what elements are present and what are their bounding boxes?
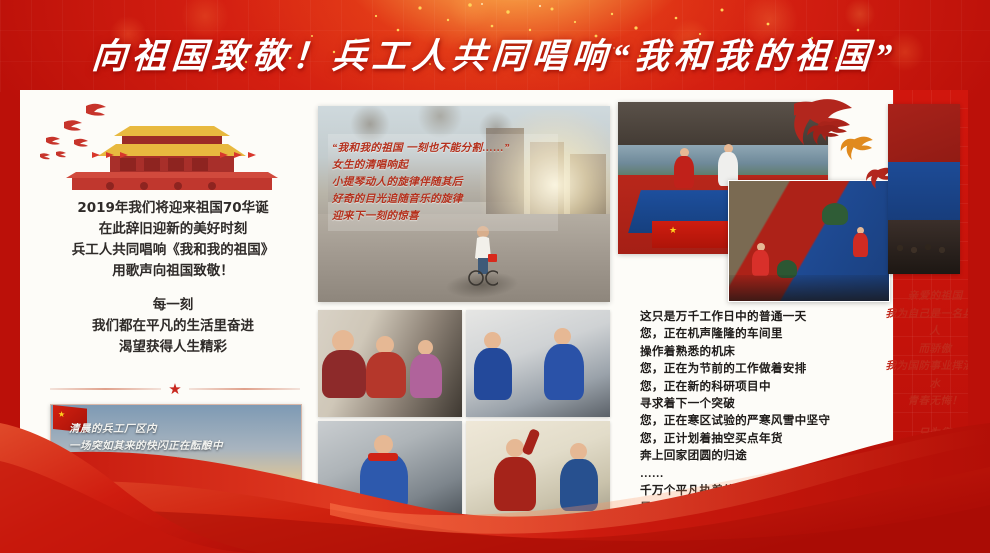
photo-crowd-singing: [888, 104, 960, 274]
photo-worker-with-flag: [318, 421, 462, 528]
far-right-text: 亲爱的祖国 我为自己是一名兵工人 而骄傲 我为国防事业挥洒汗水 青春无悔！ 只为…: [882, 288, 968, 477]
body-line: 操作着熟悉的机床: [640, 343, 890, 360]
photo-grid: [318, 310, 610, 528]
poster-root: 向祖国致敬！兵工人共同唱响“我和我的祖国”: [0, 0, 990, 553]
body-line: 寻求着下一个突破: [640, 395, 890, 412]
far-line: 国泰民安: [882, 442, 968, 460]
body-line: 不变的初心和坚守: [640, 517, 890, 530]
far-right-column: 亲爱的祖国 我为自己是一名兵工人 而骄傲 我为国防事业挥洒汗水 青春无悔！ 只为…: [882, 96, 968, 524]
left-column: 2019年我们将迎来祖国70华诞 在此辞旧迎新的美好时刻 兵工人共同唱响《我和我…: [28, 94, 318, 524]
left-line: 我们都在平凡的生活里奋进: [28, 316, 318, 337]
photo-waving-woman: [466, 421, 610, 528]
photo-elderly-singers: [318, 310, 462, 417]
body-line: ……: [640, 465, 890, 482]
caption-line: 快闪队员纷纷开始行动: [69, 455, 283, 472]
star-divider: ★: [50, 382, 300, 396]
left-line: 每一刻: [28, 295, 318, 316]
photo-bicycle-dawn: “我和我的祖国 一刻也不能分割……” 女生的清唱响起 小提琴动人的旋律伴随其后 …: [318, 106, 610, 302]
far-line: 青春无悔！: [882, 393, 968, 411]
left-intro-text: 2019年我们将迎来祖国70华诞 在此辞旧迎新的美好时刻 兵工人共同唱响《我和我…: [28, 198, 318, 358]
body-line: 您，正在寒区试验的严寒风雪中坚守: [640, 412, 890, 429]
photo-two-workers: [466, 310, 610, 417]
right-column: ★: [616, 96, 896, 524]
photo-caption-hero: “我和我的祖国 一刻也不能分割……” 女生的清唱响起 小提琴动人的旋律伴随其后 …: [328, 134, 558, 231]
far-line: 而骄傲: [882, 341, 968, 359]
left-line: 在此辞旧迎新的美好时刻: [28, 219, 318, 240]
right-body-text: 这只是万千工作日中的普通一天 您，正在机声隆隆的车间里 操作着熟悉的机床 您，正…: [640, 308, 890, 530]
content-panel: 2019年我们将迎来祖国70华诞 在此辞旧迎新的美好时刻 兵工人共同唱响《我和我…: [20, 90, 968, 530]
caption-line: 好奇的目光追随音乐的旋律: [332, 191, 554, 208]
caption-line: 一场突如其来的快闪正在酝酿中: [69, 438, 283, 455]
photo-caption-left: 清晨的兵工厂区内 一场突如其来的快闪正在酝酿中 快闪队员纷纷开始行动: [69, 421, 283, 472]
caption-line: 女生的清唱响起: [332, 157, 554, 174]
divider-bar-left: [50, 388, 161, 390]
left-line: 渴望获得人生精彩: [28, 337, 318, 358]
body-line: 您，正在为节前的工作做着安排: [640, 360, 890, 377]
left-line: 用歌声向祖国致敬！: [28, 261, 318, 282]
center-column: “我和我的祖国 一刻也不能分割……” 女生的清唱响起 小提琴动人的旋律伴随其后 …: [318, 98, 610, 522]
body-line: 是兵工人对“铸国防利剑”: [640, 499, 890, 516]
divider-bar-right: [189, 388, 300, 390]
body-line: 您，正计划着抽空买点年货: [640, 430, 890, 447]
photo-factory-dawn: ★ 清晨的兵工厂区内 一场突如其来的快闪正在酝酿中 快闪队员纷纷开始行动: [50, 404, 302, 522]
poster-title-wrap: 向祖国致敬！兵工人共同唱响“我和我的祖国”: [0, 28, 990, 79]
caption-line: 清晨的兵工厂区内: [69, 421, 283, 438]
body-line: 您，正在机声隆隆的车间里: [640, 325, 890, 342]
far-line: 亲爱的祖国: [882, 288, 968, 306]
left-line: 2019年我们将迎来祖国70华诞: [28, 198, 318, 219]
body-line: 您，正在新的科研项目中: [640, 378, 890, 395]
tiananmen-gate-icon: [34, 100, 310, 192]
cyclist-figure-icon: [468, 224, 498, 286]
body-line: 奔上回家团圆的归途: [640, 447, 890, 464]
far-line: 繁荣昌盛: [882, 460, 968, 478]
left-line: 兵工人共同唱响《我和我的祖国》: [28, 240, 318, 261]
body-line: 这只是万千工作日中的普通一天: [640, 308, 890, 325]
caption-line: 迎来下一刻的惊喜: [332, 208, 554, 225]
far-line: 我为国防事业挥洒汗水: [882, 358, 968, 393]
caption-line: “我和我的祖国 一刻也不能分割……”: [332, 140, 554, 157]
far-line: 我为自己是一名兵工人: [882, 306, 968, 341]
caption-line: 小提琴动人的旋律伴随其后: [332, 174, 554, 191]
far-line: 只为您: [882, 425, 968, 443]
treeline-shape: [51, 489, 301, 521]
body-line: 千万个平凡执着的我们聚合在一起: [640, 482, 890, 499]
red-star-icon: ★: [168, 382, 181, 397]
poster-title: 向祖国致敬！兵工人共同唱响“我和我的祖国”: [91, 28, 900, 79]
